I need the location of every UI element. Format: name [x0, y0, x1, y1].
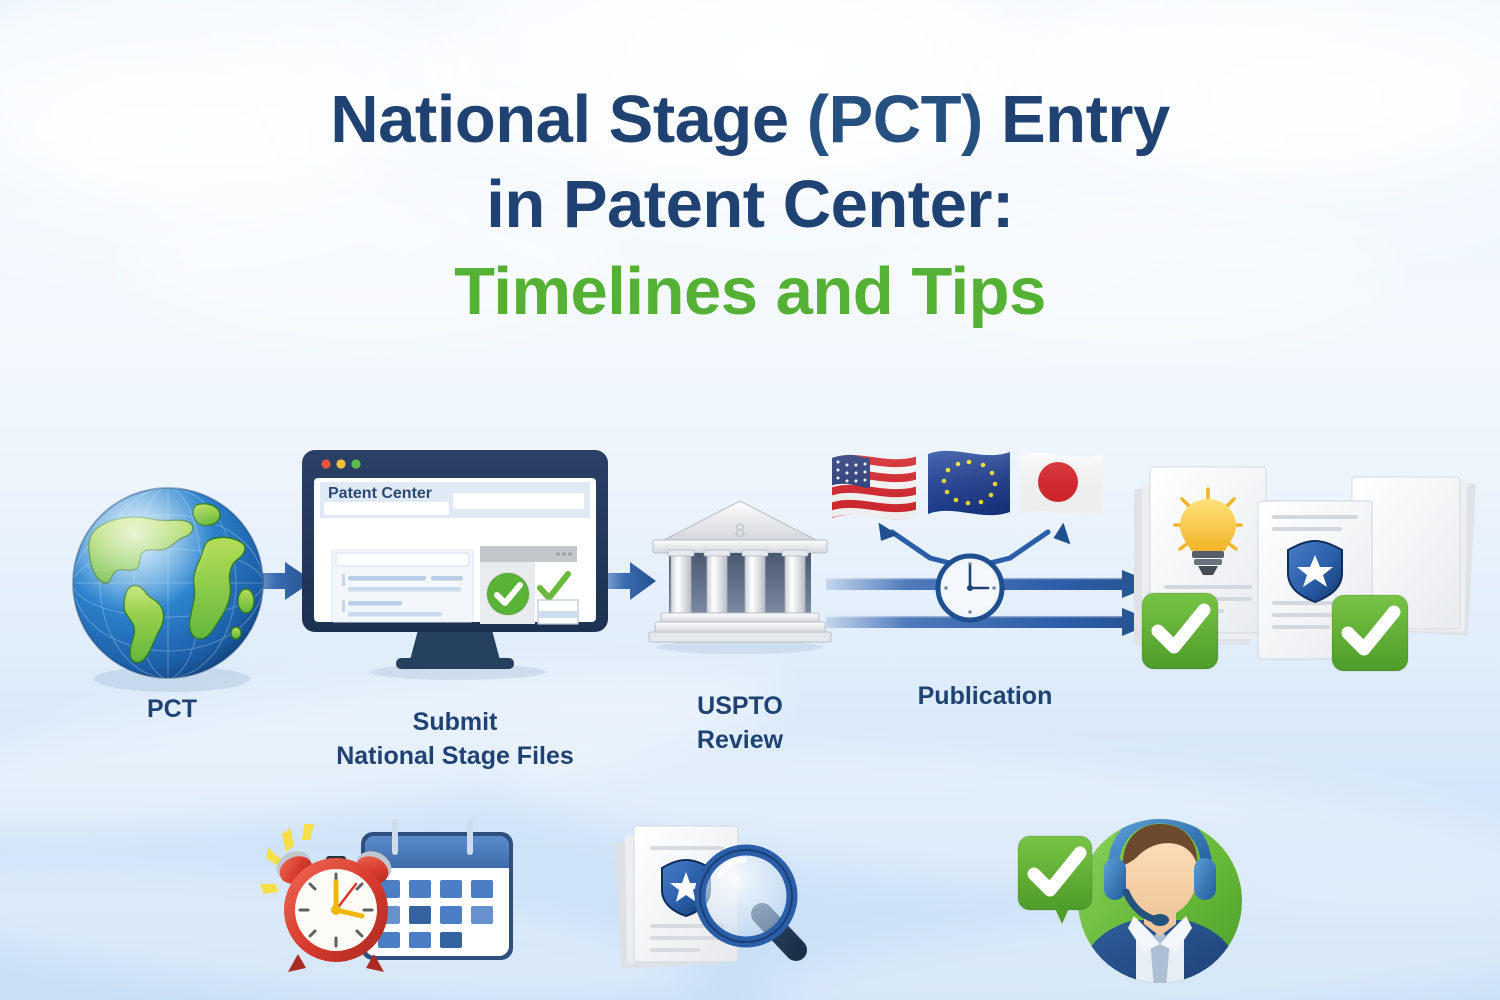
arrow-head-left [875, 518, 898, 541]
flow-label-submit-line1: Submit [305, 706, 605, 740]
arrow-head-right [1054, 521, 1077, 544]
green-check-circle-icon [487, 573, 529, 615]
bank-building-icon: 8 [645, 495, 835, 660]
flow-label-submit: Submit National Stage Files [305, 706, 605, 774]
documents-magnifier-icon [600, 812, 840, 982]
flow-label-uspto-line1: USPTO [650, 690, 830, 724]
title-pct-parenthetical: (PCT) [807, 82, 983, 157]
japan-flag [1020, 453, 1102, 515]
flow-label-uspto: USPTO Review [650, 690, 830, 758]
monitor-icon: Patent Center [300, 448, 610, 680]
svg-text:8: 8 [735, 521, 746, 542]
magnifier-icon [700, 850, 796, 950]
traffic-light-green [351, 459, 360, 468]
flow-label-publication: Publication [880, 680, 1090, 714]
green-check-badge [1332, 595, 1408, 671]
traffic-light-red [321, 459, 330, 468]
infographic-canvas: National Stage (PCT) Entry in Patent Cen… [0, 0, 1500, 1000]
title-subtitle: Timelines and Tips [0, 258, 1500, 325]
title-line1-part-b: Entry [983, 82, 1170, 157]
title-line2: in Patent Center: [0, 171, 1500, 238]
clock-icon [938, 556, 1002, 620]
browser-app-title: Patent Center [328, 485, 432, 502]
alarm-clock-and-calendar-icon [258, 818, 528, 978]
documents-approved-icon [1120, 455, 1500, 685]
flow-label-publication-text: Publication [918, 682, 1053, 710]
green-check-badge [1142, 593, 1218, 669]
flow-label-uspto-line2: Review [650, 724, 830, 758]
flow-label-pct-text: PCT [147, 695, 197, 723]
united-states-flag [820, 440, 930, 540]
title-line1-part-a: National Stage [330, 82, 806, 157]
traffic-light-yellow [336, 459, 345, 468]
globe-icon [68, 483, 278, 693]
page-title: National Stage (PCT) Entry in Patent Cen… [0, 86, 1500, 325]
clock-flags-icon [820, 440, 1120, 670]
flow-label-submit-line2: National Stage Files [305, 740, 605, 774]
support-agent-headset-icon [1010, 818, 1275, 983]
flow-label-pct: PCT [92, 693, 252, 727]
european-union-flag [928, 451, 1010, 515]
